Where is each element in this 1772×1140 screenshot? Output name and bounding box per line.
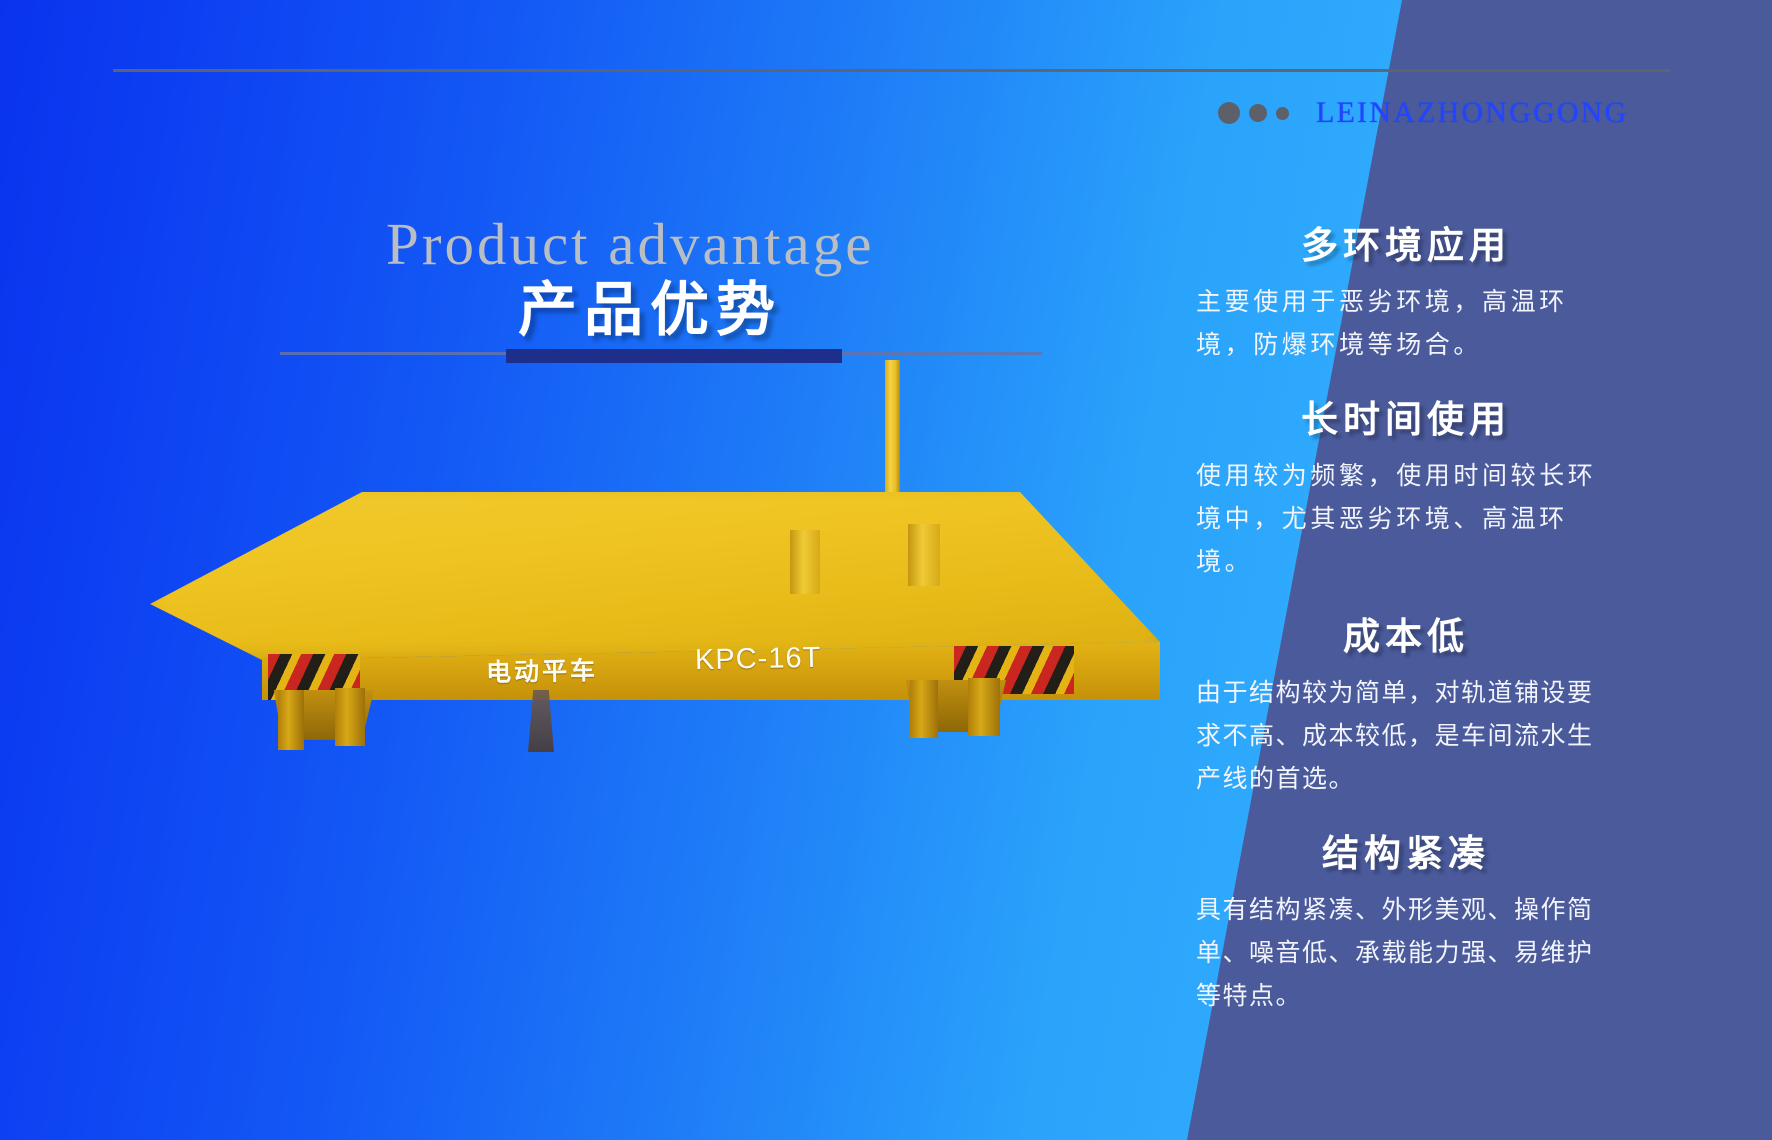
deck-block-right [908, 524, 940, 586]
brand-name: LEINAZHONGGONG [1316, 96, 1628, 130]
feature-item-4: 结构紧凑 具有结构紧凑、外形美观、操作简单、噪音低、承载能力强、易维护等特点。 [1196, 823, 1616, 1018]
feature-title-4: 结构紧凑 [1196, 823, 1616, 877]
feature-body-4: 具有结构紧凑、外形美观、操作简单、噪音低、承载能力强、易维护等特点。 [1196, 889, 1616, 1018]
support-leg-4 [968, 678, 1000, 736]
feature-title-3: 成本低 [1196, 606, 1616, 660]
header-divider-line [113, 69, 1670, 72]
brand-logo: LEINAZHONGGONG [1218, 96, 1628, 130]
machine-side-label: 电动平车 [486, 651, 599, 689]
feature-list: 多环境应用 主要使用于恶劣环境，高温环境，防爆环境等场合。 长时间使用 使用较为… [1196, 215, 1616, 1040]
feature-item-1: 多环境应用 主要使用于恶劣环境，高温环境，防爆环境等场合。 [1196, 215, 1616, 367]
poster-canvas: LEINAZHONGGONG Product advantage 产品优势 电动… [0, 0, 1772, 1140]
feature-title-2: 长时间使用 [1196, 389, 1616, 443]
feature-body-3: 由于结构较为简单，对轨道铺设要求不高、成本较低，是车间流水生产线的首选。 [1196, 672, 1616, 801]
feature-body-2: 使用较为频繁，使用时间较长环境中，尤其恶劣环境、高温环境。 [1196, 455, 1616, 584]
machine-model-label: KPC-16T [695, 642, 822, 677]
deck-surface [150, 492, 1160, 662]
logo-dot-large-icon [1218, 102, 1240, 124]
support-leg-2 [335, 688, 365, 746]
title-chinese: 产品优势 [518, 262, 782, 347]
feature-item-3: 成本低 由于结构较为简单，对轨道铺设要求不高、成本较低，是车间流水生产线的首选。 [1196, 606, 1616, 801]
feature-title-1: 多环境应用 [1196, 215, 1616, 269]
logo-dot-medium-icon [1249, 104, 1267, 122]
support-leg-3 [910, 680, 938, 738]
product-photo: 电动平车 KPC-16T [150, 360, 1160, 830]
logo-dot-small-icon [1276, 107, 1289, 120]
deck-block-left [790, 530, 820, 594]
feature-body-1: 主要使用于恶劣环境，高温环境，防爆环境等场合。 [1196, 281, 1616, 367]
feature-item-2: 长时间使用 使用较为频繁，使用时间较长环境中，尤其恶劣环境、高温环境。 [1196, 389, 1616, 584]
support-leg-1 [278, 690, 304, 750]
